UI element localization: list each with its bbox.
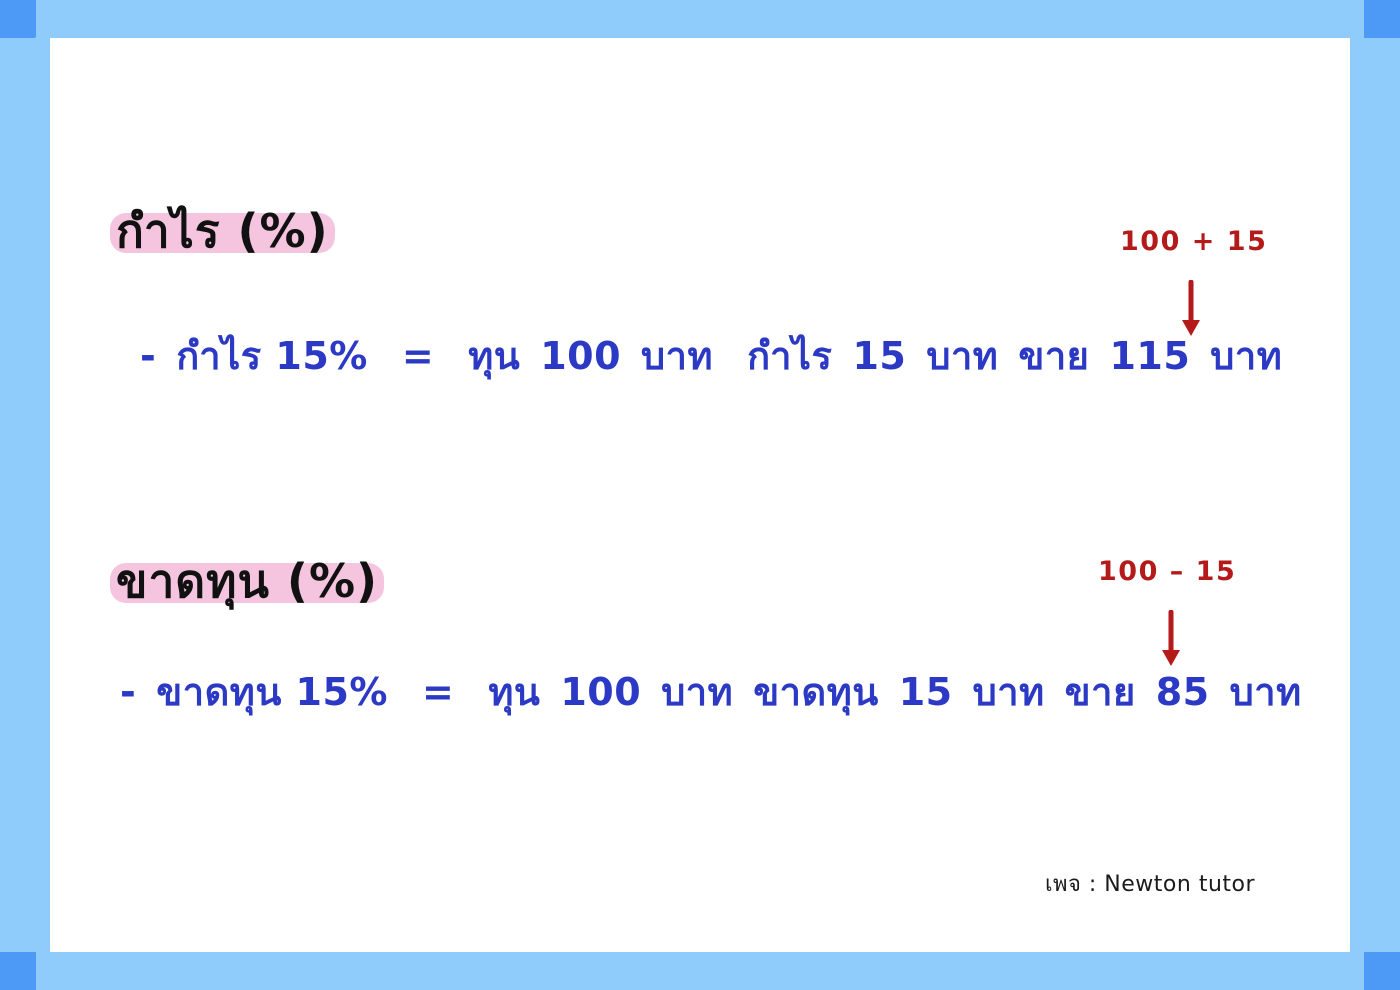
loss-equation-line: -ขาดทุน 15%=ทุน100บาทขาดทุน15บาทขาย85บาท	[120, 672, 1302, 714]
loss-delta-label: ขาดทุน	[753, 670, 879, 714]
profit-equation-line: -กำไร 15%=ทุน100บาทกำไร15บาทขาย115บาท	[140, 336, 1282, 378]
profit-equals: =	[402, 334, 434, 378]
profit-annotation-text: 100 + 15	[1120, 226, 1267, 257]
loss-delta-unit: บาท	[973, 670, 1045, 714]
corner-tab-bottom-right	[1364, 952, 1400, 990]
corner-tab-top-left	[0, 0, 36, 38]
corner-tab-bottom-left	[0, 952, 36, 990]
loss-delta-value: 15	[899, 670, 953, 714]
profit-delta-value: 15	[852, 334, 906, 378]
loss-sell-value: 85	[1156, 670, 1210, 714]
loss-cost-unit: บาท	[661, 670, 733, 714]
down-arrow-icon-profit	[1178, 280, 1204, 342]
loss-cost-label: ทุน	[488, 670, 540, 714]
loss-annotation-text: 100 – 15	[1098, 556, 1236, 587]
loss-equals: =	[422, 670, 454, 714]
section-heading-loss: ขาดทุน (%)	[110, 556, 384, 606]
profit-sell-unit: บาท	[1210, 334, 1282, 378]
loss-sell-unit: บาท	[1230, 670, 1302, 714]
loss-sell-label: ขาย	[1065, 670, 1136, 714]
paper-sheet: กำไร (%) -กำไร 15%=ทุน100บาทกำไร15บาทขาย…	[50, 38, 1350, 952]
loss-bullet: -	[120, 670, 136, 714]
profit-label: กำไร 15%	[176, 334, 368, 378]
corner-tab-top-right	[1364, 0, 1400, 38]
section-heading-profit-text: กำไร (%)	[110, 206, 335, 256]
section-heading-profit: กำไร (%)	[110, 206, 335, 256]
profit-cost-label: ทุน	[468, 334, 520, 378]
slide-canvas: กำไร (%) -กำไร 15%=ทุน100บาทกำไร15บาทขาย…	[0, 0, 1400, 990]
loss-cost-value: 100	[560, 670, 641, 714]
loss-label: ขาดทุน 15%	[156, 670, 388, 714]
profit-delta-unit: บาท	[926, 334, 998, 378]
section-heading-loss-text: ขาดทุน (%)	[110, 556, 384, 606]
credit-text: เพจ : Newton tutor	[1045, 866, 1255, 901]
down-arrow-icon-loss	[1158, 610, 1184, 672]
profit-bullet: -	[140, 334, 156, 378]
profit-sell-label: ขาย	[1018, 334, 1089, 378]
profit-cost-value: 100	[540, 334, 621, 378]
profit-delta-label: กำไร	[747, 334, 832, 378]
profit-cost-unit: บาท	[641, 334, 713, 378]
